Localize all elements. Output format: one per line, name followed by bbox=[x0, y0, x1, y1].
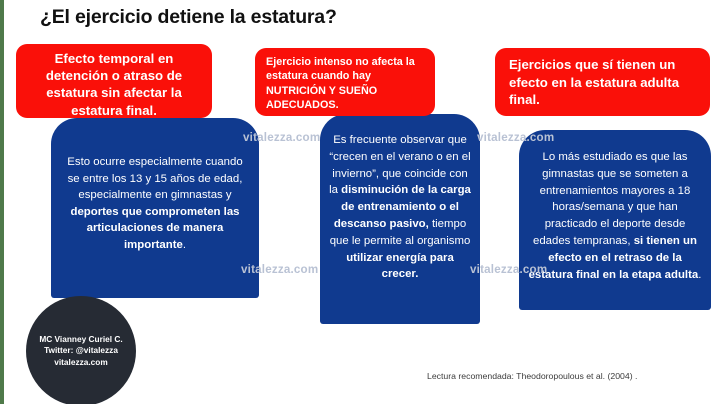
page-title: ¿El ejercicio detiene la estatura? bbox=[40, 6, 440, 29]
red-callout-2-text: Ejercicio intenso no afecta la estatura … bbox=[266, 55, 425, 113]
red-callout-2: Ejercicio intenso no afecta la estatura … bbox=[255, 48, 435, 116]
reference-note: Lectura recomendada: Theodoropoulous et … bbox=[427, 371, 637, 381]
infographic-canvas: ¿El ejercicio detiene la estatura? Efect… bbox=[0, 0, 727, 404]
author-site: vitalezza.com bbox=[54, 357, 108, 369]
red-callout-1: Efecto temporal en detención o atraso de… bbox=[16, 44, 212, 118]
red-callout-3: Ejercicios que sí tienen un efecto en la… bbox=[495, 48, 710, 116]
author-twitter: Twitter: @vitalezza bbox=[44, 345, 118, 357]
red-callout-1-text: Efecto temporal en detención o atraso de… bbox=[24, 50, 204, 119]
author-name: MC Vianney Curiel C. bbox=[39, 334, 122, 346]
blue-panel-3: Lo más estudiado es que las gimnastas qu… bbox=[519, 130, 711, 310]
blue-panel-2: Es frecuente observar que “crecen en el … bbox=[320, 114, 480, 324]
blue-panel-1: Esto ocurre especialmente cuando se entr… bbox=[51, 118, 259, 298]
author-badge: MC Vianney Curiel C. Twitter: @vitalezza… bbox=[26, 296, 136, 404]
red-callout-3-text: Ejercicios que sí tienen un efecto en la… bbox=[509, 56, 700, 109]
left-edge-strip bbox=[0, 0, 4, 404]
